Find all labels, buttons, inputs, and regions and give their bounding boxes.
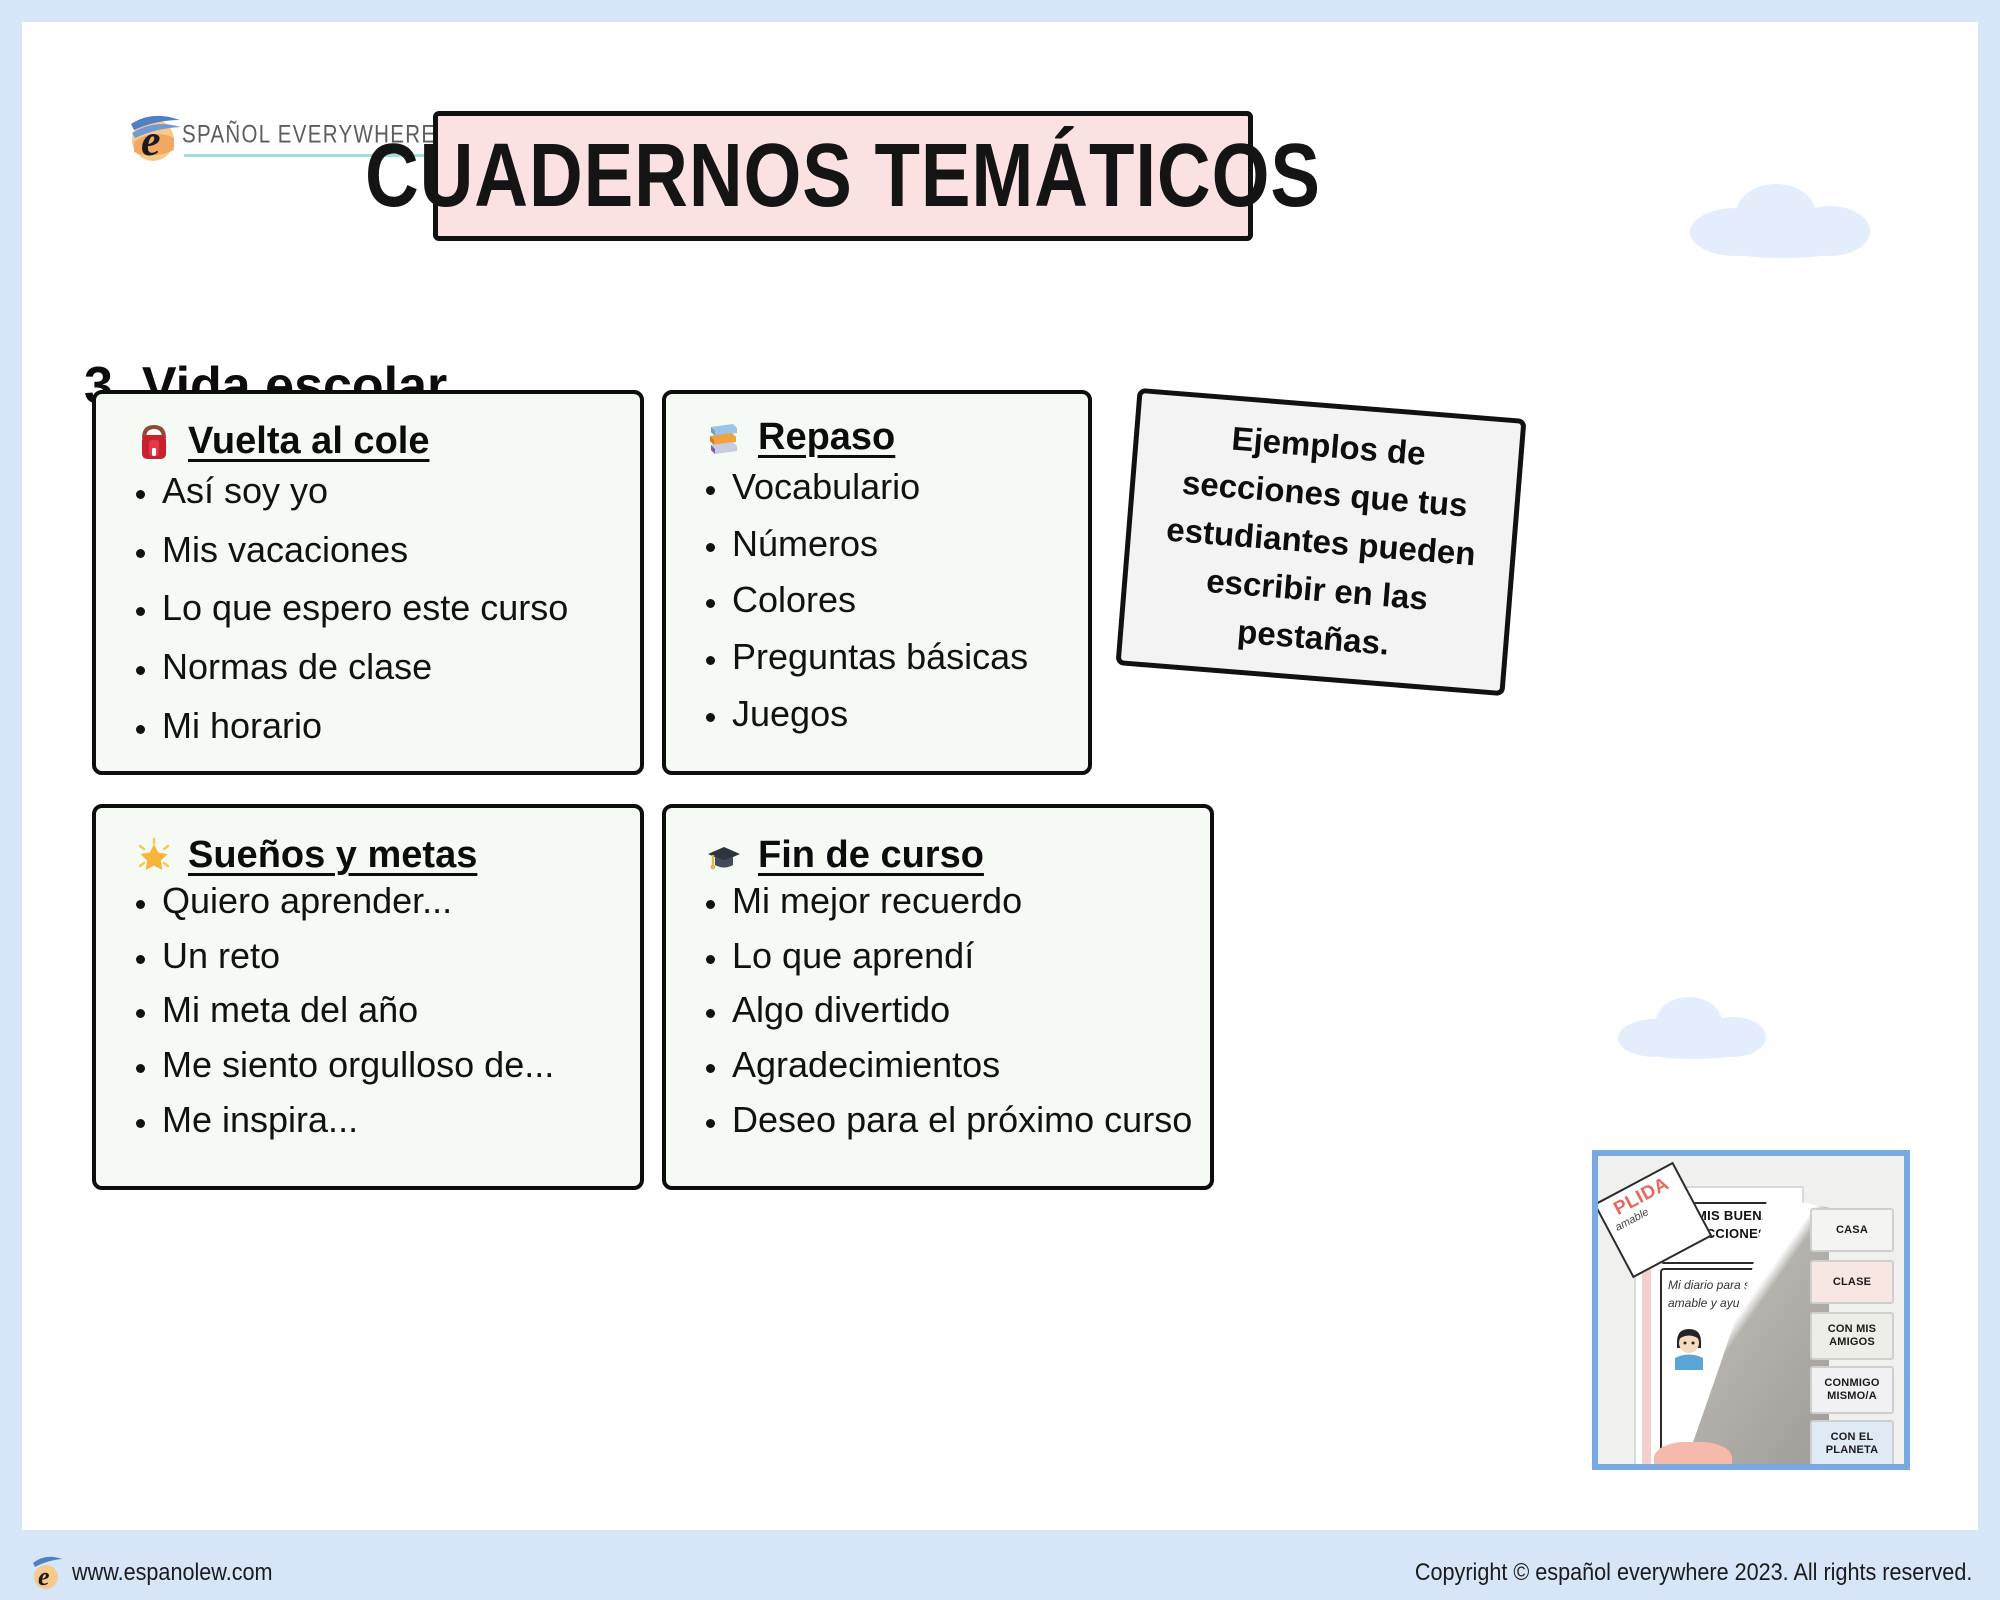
list-item: Lo que espero este curso	[162, 590, 640, 627]
card-title: Vuelta al cole	[188, 420, 429, 463]
list-item: Mi meta del año	[162, 992, 640, 1029]
glowing-star-icon	[134, 836, 174, 876]
list-item: Mis vacaciones	[162, 532, 640, 569]
card-title: Repaso	[758, 416, 895, 459]
list-item: Vocabulario	[732, 469, 1088, 506]
photo-hand-thumb	[1654, 1442, 1732, 1470]
callout-note: Ejemplos de secciones que tus estudiante…	[1115, 388, 1526, 696]
list-item: Lo que aprendí	[732, 938, 1210, 975]
photo-tab-con-mis-amigos: CON MIS AMIGOS	[1810, 1312, 1894, 1360]
list-item: Así soy yo	[162, 473, 640, 510]
graduation-cap-icon	[704, 836, 744, 876]
list-item: Algo divertido	[732, 992, 1210, 1029]
list-item: Juegos	[732, 696, 1088, 733]
card-suenos-y-metas: Sueños y metas Quiero aprender... Un ret…	[92, 804, 644, 1190]
card-list: Mi mejor recuerdo Lo que aprendí Algo di…	[666, 883, 1210, 1139]
backpack-icon	[134, 422, 174, 462]
footer-website[interactable]: www.espanolew.com	[72, 1559, 273, 1587]
list-item: Quiero aprender...	[162, 883, 640, 920]
photo-body-line2: amable y ayu	[1668, 1296, 1739, 1310]
card-vuelta-al-cole: Vuelta al cole Así soy yo Mis vacaciones…	[92, 390, 644, 775]
list-item: Agradecimientos	[732, 1047, 1210, 1084]
page-title: CUADERNOS TEMÁTICOS	[365, 124, 1321, 227]
page-title-box: CUADERNOS TEMÁTICOS	[433, 111, 1253, 241]
card-header: Sueños y metas	[96, 808, 640, 877]
footer-logo-icon: e	[30, 1551, 64, 1591]
photo-tab-casa: CASA	[1810, 1208, 1894, 1252]
list-item: Preguntas básicas	[732, 639, 1088, 676]
photo-tab-con-el-planeta: CON EL PLANETA	[1810, 1420, 1894, 1468]
espanol-e-icon: e	[126, 106, 184, 164]
footer-copyright: Copyright © español everywhere 2023. All…	[1415, 1559, 1972, 1587]
photo-tab-clase: CLASE	[1810, 1260, 1894, 1304]
card-list: Así soy yo Mis vacaciones Lo que espero …	[96, 473, 640, 745]
photo-girl-illustration	[1672, 1326, 1706, 1370]
list-item: Me siento orgulloso de...	[162, 1047, 640, 1084]
card-list: Quiero aprender... Un reto Mi meta del a…	[96, 883, 640, 1139]
list-item: Números	[732, 526, 1088, 563]
card-title: Fin de curso	[758, 834, 984, 877]
list-item: Normas de clase	[162, 649, 640, 686]
photo-tab-conmigo-mismo: CONMIGO MISMO/A	[1810, 1366, 1894, 1414]
card-header: Vuelta al cole	[96, 394, 640, 463]
svg-text:e: e	[38, 1562, 50, 1591]
page-canvas: e SPAÑOL EVERYWHERE!® CUADERNOS TEMÁTICO…	[22, 22, 1978, 1530]
list-item: Colores	[732, 582, 1088, 619]
card-header: Repaso	[666, 394, 1088, 459]
list-item: Deseo para el próximo curso	[732, 1102, 1210, 1139]
svg-text:e: e	[141, 116, 161, 164]
notebook-tabs-photo: MIS BUENAS ACCIONES Mi diario para ser a…	[1592, 1150, 1910, 1470]
card-header: Fin de curso	[666, 808, 1210, 877]
list-item: Mi horario	[162, 708, 640, 745]
list-item: Un reto	[162, 938, 640, 975]
list-item: Mi mejor recuerdo	[732, 883, 1210, 920]
books-icon	[704, 418, 744, 458]
card-fin-de-curso: Fin de curso Mi mejor recuerdo Lo que ap…	[662, 804, 1214, 1190]
list-item: Me inspira...	[162, 1102, 640, 1139]
callout-note-text: Ejemplos de secciones que tus estudiante…	[1122, 408, 1520, 677]
cloud-decoration-top	[1690, 182, 1870, 260]
page-footer: e www.espanolew.com Copyright © español …	[0, 1543, 2000, 1600]
card-list: Vocabulario Números Colores Preguntas bá…	[666, 469, 1088, 733]
cloud-decoration-middle	[1618, 997, 1768, 1059]
card-title: Sueños y metas	[188, 834, 477, 877]
card-repaso: Repaso Vocabulario Números Colores Pregu…	[662, 390, 1092, 775]
